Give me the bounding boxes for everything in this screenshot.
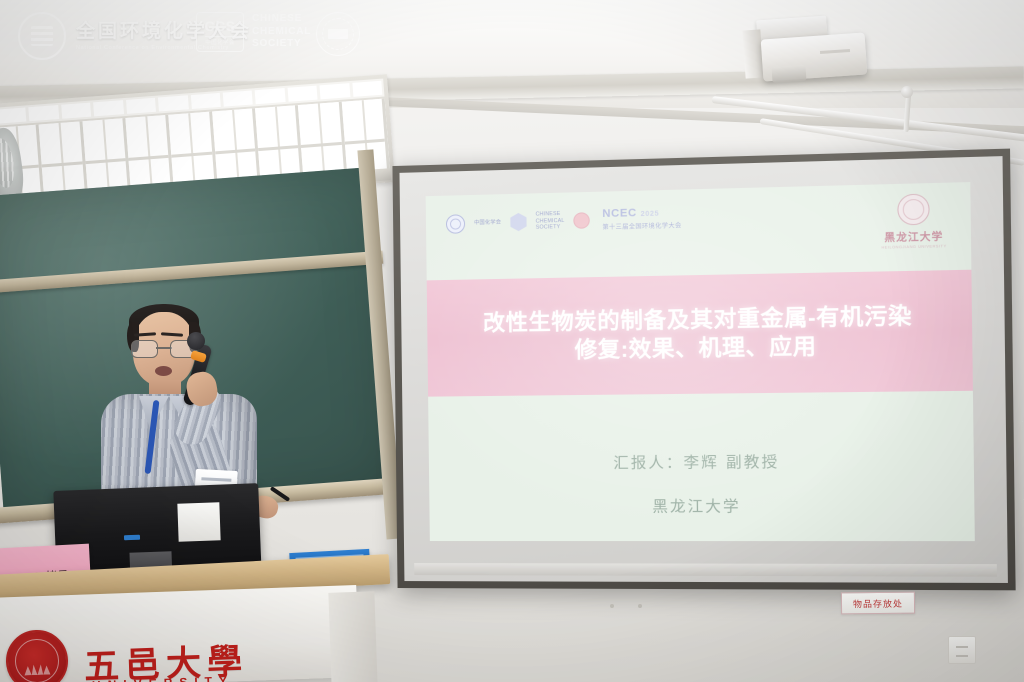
monitor-spec-label — [177, 502, 220, 541]
chemical-society-hex-logo-label: CHINESE CHEMICAL SOCIETY — [536, 211, 565, 231]
slide-title-line-2: 修复:效果、机理、应用 — [558, 332, 834, 365]
ccs-round-logo-label: 中国化学会 — [474, 219, 501, 226]
slide-affiliation-line: 黑龙江大学 — [652, 495, 741, 517]
presentation-slide: 中国化学会 CHINESE CHEMICAL SOCIETY NCEC 2025 — [426, 182, 975, 541]
presenter-mouth — [155, 366, 172, 376]
screen-bottom-bar — [414, 563, 997, 577]
heilongjiang-university-name-en: HEILONGJIANG UNIVERSITY — [881, 244, 948, 250]
ncec-year: 2025 — [641, 211, 660, 219]
ccs-badge-icon: CCS 中国化学会 — [196, 12, 244, 52]
podium-side-panel — [328, 591, 377, 682]
storage-area-wall-sign: 物品存放处 — [841, 592, 915, 615]
ccs-round-logo-icon — [446, 214, 465, 234]
ccs-zh: 中国化学会 — [205, 36, 235, 46]
slide-footer: 汇报人：李辉 副教授 黑龙江大学 — [428, 391, 975, 541]
lecture-hall-photo: 中国化学会 CHINESE CHEMICAL SOCIETY NCEC 2025 — [0, 0, 1024, 682]
wall-mark-left — [610, 604, 614, 608]
projector-lens-icon — [771, 65, 806, 83]
wall-outlet-icon — [948, 636, 976, 664]
ncec-dot-logo-icon — [574, 212, 591, 229]
slide-logo-row: 中国化学会 CHINESE CHEMICAL SOCIETY NCEC 2025 — [446, 207, 682, 235]
watermark-third-seal — [316, 12, 360, 56]
projector-arm — [742, 29, 763, 78]
ncec-title: NCEC 2025 — [602, 207, 681, 220]
ccs-line-1: CHINESE — [252, 13, 311, 26]
wall-mark-right — [638, 604, 642, 608]
ncec-subtitle: 第十三届全国环境化学大会 — [602, 220, 681, 231]
book-ring-icon — [18, 12, 66, 60]
slide-header: 中国化学会 CHINESE CHEMICAL SOCIETY NCEC 2025 — [426, 182, 972, 280]
ccs-line-2: CHEMICAL — [252, 26, 311, 39]
ccs-line-3: SOCIETY — [252, 38, 311, 51]
slide-title-line-1: 改性生物炭的制备及其对重金属-有机污染 — [467, 302, 930, 338]
circular-seal-icon — [316, 12, 360, 56]
monitor-port-indicator — [124, 535, 140, 541]
projection-screen-surface: 中国化学会 CHINESE CHEMICAL SOCIETY NCEC 2025 — [399, 156, 1007, 583]
projection-screen-frame: 中国化学会 CHINESE CHEMICAL SOCIETY NCEC 2025 — [392, 149, 1015, 591]
chemical-society-hex-logo-icon — [510, 213, 526, 232]
slide-presenter-line: 汇报人：李辉 副教授 — [613, 450, 779, 472]
ccs-abbr: CCS — [204, 18, 235, 34]
slide-title-band: 改性生物炭的制备及其对重金属-有机污染 修复:效果、机理、应用 — [427, 270, 973, 397]
watermark-chinese-chemical-society: CCS 中国化学会 CHINESE CHEMICAL SOCIETY — [196, 12, 311, 52]
storage-area-wall-sign-label: 物品存放处 — [853, 596, 903, 610]
heilongjiang-university-logo: 黑龙江大学 HEILONGJIANG UNIVERSITY — [880, 193, 947, 250]
heilongjiang-university-seal-icon — [897, 194, 930, 226]
conduit-junction-icon — [901, 86, 913, 98]
ccs-full-name: CHINESE CHEMICAL SOCIETY — [252, 13, 311, 51]
ncec-title-block: NCEC 2025 第十三届全国环境化学大会 — [602, 207, 681, 231]
heilongjiang-university-name-zh: 黑龙江大学 — [881, 227, 948, 244]
